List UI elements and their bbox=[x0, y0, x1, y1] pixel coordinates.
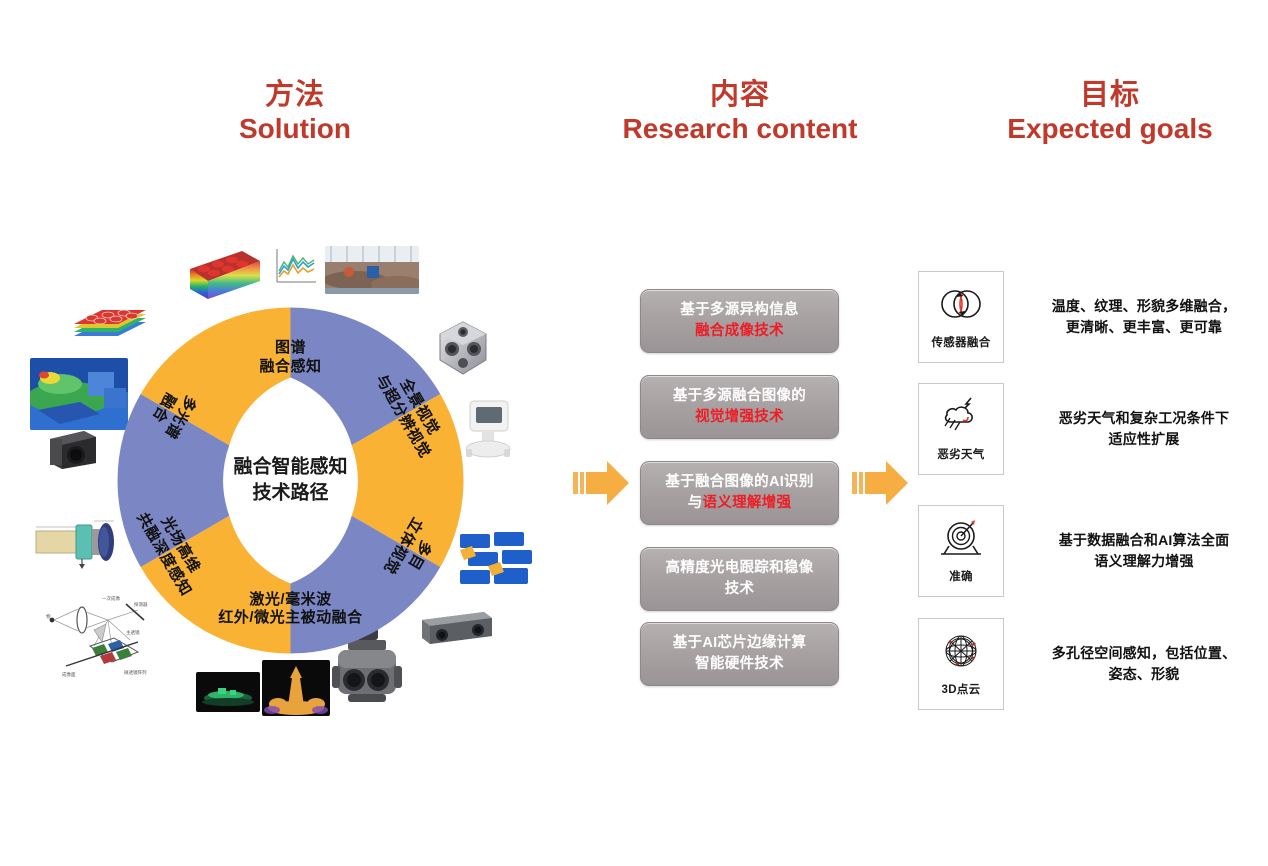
ring-center-line2: 技术路径 bbox=[233, 481, 347, 508]
goal-accuracy: 准确 基于数据融合和AI算法全面 语义理解力增强 bbox=[918, 505, 1258, 597]
box-visual-enhancement-line2: 视觉增强技术 bbox=[673, 407, 806, 428]
column-header-content-cn: 内容 bbox=[590, 78, 890, 112]
column-header-solution: 方法 Solution bbox=[160, 78, 430, 145]
bad-weather-icon bbox=[935, 392, 987, 440]
column-header-solution-en: Solution bbox=[160, 112, 430, 145]
goal-point-cloud-text: 多孔径空间感知，包括位置、 姿态、形貌 bbox=[1028, 643, 1260, 685]
column-header-content: 内容 Research content bbox=[590, 78, 890, 145]
goal-point-cloud-caption: 3D点云 bbox=[942, 681, 981, 697]
arrow-solution-to-content bbox=[573, 457, 631, 509]
box-ai-recognition-line1: 基于融合图像的AI识别 bbox=[665, 472, 813, 493]
hyperspectral-cube-image bbox=[186, 243, 264, 305]
goal-bad-weather-text: 恶劣天气和复杂工况条件下 适应性扩展 bbox=[1028, 408, 1260, 450]
column-header-goals: 目标 Expected goals bbox=[960, 78, 1260, 145]
box-ai-recognition[interactable]: 基于融合图像的AI识别 与语义理解增强 bbox=[640, 461, 839, 525]
goal-sensor-fusion-caption: 传感器融合 bbox=[932, 334, 991, 350]
goal-accuracy-card[interactable]: 准确 bbox=[918, 505, 1004, 597]
box-optical-tracking-line2: 技术 bbox=[666, 579, 814, 600]
ring-center-line1: 融合智能感知 bbox=[233, 454, 347, 481]
column-header-goals-en: Expected goals bbox=[960, 112, 1260, 145]
diagram-canvas: 方法 Solution 内容 Research content 目标 Expec… bbox=[0, 0, 1268, 866]
goal-bad-weather: 恶劣天气 恶劣天气和复杂工况条件下 适应性扩展 bbox=[918, 383, 1258, 475]
goal-bad-weather-card[interactable]: 恶劣天气 bbox=[918, 383, 1004, 475]
box-ai-recognition-line2-prefix: 与 bbox=[688, 495, 703, 511]
box-fusion-imaging[interactable]: 基于多源异构信息 融合成像技术 bbox=[640, 289, 839, 353]
white-instrument-photo bbox=[462, 395, 514, 461]
svg-text:微透镜阵列: 微透镜阵列 bbox=[124, 669, 147, 676]
box-visual-enhancement-line1: 基于多源融合图像的 bbox=[673, 386, 806, 407]
box-optical-tracking-line1: 高精度光电跟踪和稳像 bbox=[666, 558, 814, 579]
ring-center-label: 融合智能感知 技术路径 bbox=[233, 454, 347, 507]
column-header-goals-cn: 目标 bbox=[960, 78, 1260, 112]
column-header-solution-cn: 方法 bbox=[160, 78, 430, 112]
spectral-curve-chart bbox=[268, 244, 320, 292]
amber-point-cloud-image bbox=[262, 660, 330, 716]
thermal-camera-photo bbox=[44, 425, 100, 473]
goal-bad-weather-caption: 恶劣天气 bbox=[937, 446, 984, 462]
goal-point-cloud: 3D点云 多孔径空间感知，包括位置、 姿态、形貌 bbox=[918, 618, 1258, 710]
goal-point-cloud-card[interactable]: 3D点云 bbox=[918, 618, 1004, 710]
arrow-content-to-goals bbox=[852, 457, 910, 509]
box-fusion-imaging-line1: 基于多源异构信息 bbox=[680, 300, 798, 321]
goal-accuracy-caption: 准确 bbox=[949, 568, 973, 584]
box-ai-edge-hardware[interactable]: 基于AI芯片边缘计算 智能硬件技术 bbox=[640, 622, 839, 686]
goal-sensor-fusion-text: 温度、纹理、形貌多维融合， 更清晰、更丰富、更可靠 bbox=[1028, 296, 1260, 338]
sensor-fusion-icon bbox=[935, 280, 987, 328]
box-ai-recognition-line2: 语义理解增强 bbox=[703, 495, 792, 511]
box-optical-tracking[interactable]: 高精度光电跟踪和稳像 技术 bbox=[640, 547, 839, 611]
box-ai-edge-hardware-line1: 基于AI芯片边缘计算 bbox=[673, 633, 807, 654]
solution-ring-wheel: 图谱融合感知 全景视觉与超分辨视觉 多目立体视觉 激光/毫米波红外/微光主被动融… bbox=[113, 303, 468, 658]
box-fusion-imaging-line2: 融合成像技术 bbox=[680, 321, 798, 342]
point-cloud-icon bbox=[935, 627, 987, 675]
structured-light-blocks-image bbox=[458, 528, 536, 590]
svg-text:物: 物 bbox=[46, 613, 51, 620]
box-visual-enhancement[interactable]: 基于多源融合图像的 视觉增强技术 bbox=[640, 375, 839, 439]
column-header-content-en: Research content bbox=[590, 112, 890, 145]
svg-text:成像面: 成像面 bbox=[62, 671, 76, 678]
goal-accuracy-text: 基于数据融合和AI算法全面 语义理解力增强 bbox=[1028, 530, 1260, 572]
target-accuracy-icon bbox=[935, 514, 987, 562]
box-ai-edge-hardware-line2: 智能硬件技术 bbox=[673, 654, 807, 675]
goal-sensor-fusion-card[interactable]: 传感器融合 bbox=[918, 271, 1004, 363]
goal-sensor-fusion: 传感器融合 温度、纹理、形貌多维融合， 更清晰、更丰富、更可靠 bbox=[918, 271, 1258, 363]
green-point-cloud-image bbox=[196, 672, 260, 712]
pipe-inspection-photo bbox=[325, 246, 419, 294]
